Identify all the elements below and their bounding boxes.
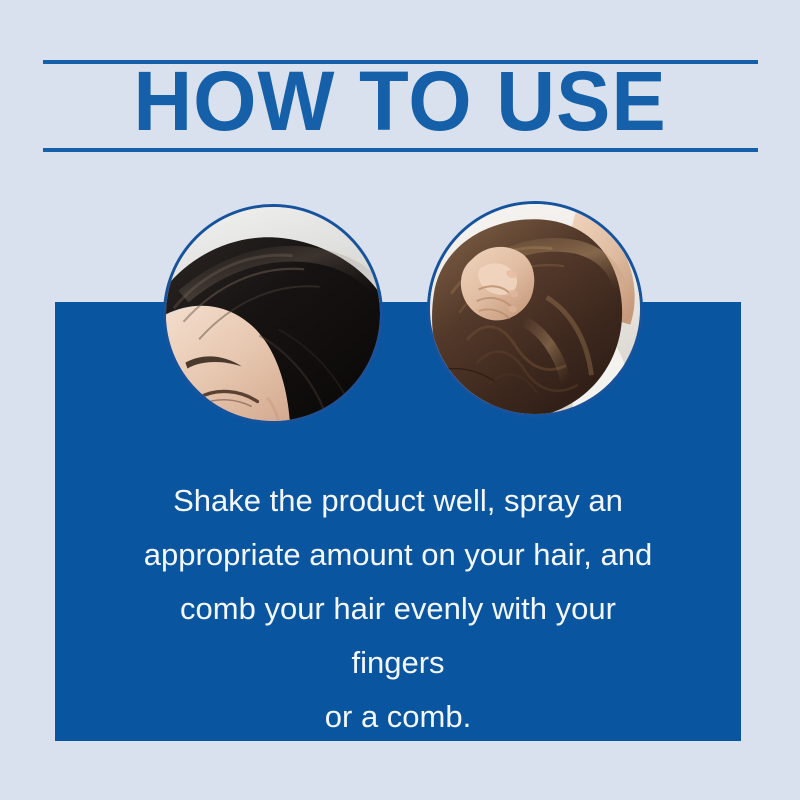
page-title: HOW TO USE: [12, 58, 788, 144]
instruction-line-1: Shake the product well, spray an: [173, 483, 623, 518]
instruction-text: Shake the product well, spray an appropr…: [130, 474, 666, 744]
hand-in-hair-photo: [427, 201, 643, 417]
hairline-closeup-photo: [163, 204, 383, 424]
horizontal-rule-bottom: [43, 148, 758, 152]
instruction-line-3: comb your hair evenly with your fingers: [180, 591, 616, 680]
instruction-line-2: appropriate amount on your hair, and: [144, 537, 652, 572]
hand-in-hair-image: [430, 204, 640, 414]
how-to-use-poster: HOW TO USE Shake the product well, spray…: [0, 0, 800, 800]
instruction-line-4: or a comb.: [325, 699, 471, 734]
hairline-closeup-image: [166, 207, 380, 421]
